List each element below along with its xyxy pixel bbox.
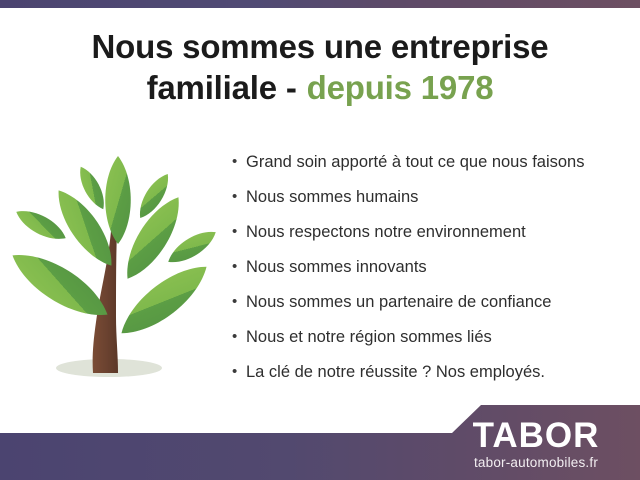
footer-shape — [0, 405, 640, 480]
list-item-label: La clé de notre réussite ? Nos employés. — [246, 360, 545, 384]
bullet-marker-icon: • — [232, 325, 246, 349]
tree-illustration — [12, 152, 217, 387]
list-item: • Nous respectons notre environnement — [232, 220, 632, 255]
list-item: • Nous sommes innovants — [232, 255, 632, 290]
headline-accent-year: depuis 1978 — [307, 69, 494, 106]
list-item-label: Nous sommes un partenaire de confiance — [246, 290, 551, 314]
slide-canvas: Nous sommes une entreprise familiale -de… — [0, 0, 640, 480]
list-item-label: Nous sommes innovants — [246, 255, 427, 279]
list-item: • La clé de notre réussite ? Nos employé… — [232, 360, 632, 395]
list-item: • Nous sommes un partenaire de confiance — [232, 290, 632, 325]
headline-line-2: familiale -depuis 1978 — [0, 67, 640, 108]
bullet-marker-icon: • — [232, 185, 246, 209]
bullet-marker-icon: • — [232, 360, 246, 384]
page-title: Nous sommes une entreprise familiale -de… — [0, 26, 640, 108]
bullet-marker-icon: • — [232, 255, 246, 279]
headline-line-2-plain: familiale - — [147, 69, 297, 106]
top-accent-band — [0, 0, 640, 8]
benefits-list: • Grand soin apporté à tout ce que nous … — [232, 150, 632, 395]
list-item: • Nous sommes humains — [232, 185, 632, 220]
list-item-label: Nous et notre région sommes liés — [246, 325, 492, 349]
list-item: • Grand soin apporté à tout ce que nous … — [232, 150, 632, 185]
bullet-marker-icon: • — [232, 220, 246, 244]
bullet-marker-icon: • — [232, 290, 246, 314]
list-item-label: Nous sommes humains — [246, 185, 418, 209]
footer-bar: TABOR tabor-automobiles.fr — [0, 398, 640, 480]
list-item: • Nous et notre région sommes liés — [232, 325, 632, 360]
headline-line-1: Nous sommes une entreprise — [0, 26, 640, 67]
list-item-label: Nous respectons notre environnement — [246, 220, 526, 244]
list-item-label: Grand soin apporté à tout ce que nous fa… — [246, 150, 584, 174]
bullet-marker-icon: • — [232, 150, 246, 174]
